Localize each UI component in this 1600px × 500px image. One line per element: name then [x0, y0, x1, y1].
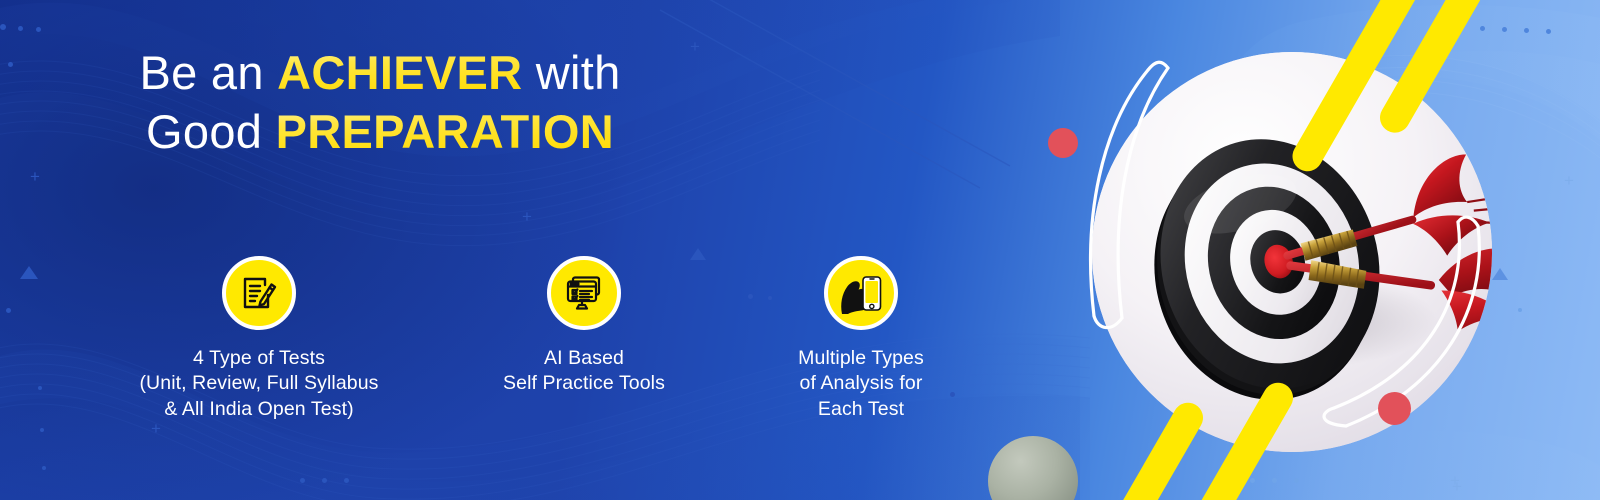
- headline-word: Be an: [139, 46, 277, 99]
- hand-smartphone-icon: [824, 256, 898, 330]
- dot-decoration: [1250, 478, 1255, 483]
- dot-decoration: [1272, 478, 1277, 483]
- dot-decoration: [18, 26, 23, 31]
- dot-decoration: [322, 478, 327, 483]
- monitor-checklist-icon: [547, 256, 621, 330]
- document-pencil-icon: [222, 256, 296, 330]
- promo-banner: + + + + + + + +: [0, 0, 1600, 500]
- dot-decoration: [42, 466, 46, 470]
- dot-decoration: [1502, 27, 1507, 32]
- headline: Be an ACHIEVER with Good PREPARATION: [0, 48, 760, 157]
- dot-decoration: [344, 478, 349, 483]
- dot-decoration: [1480, 26, 1485, 31]
- plus-decoration: +: [30, 168, 40, 185]
- dot-decoration: [748, 294, 753, 299]
- headline-line-2: Good PREPARATION: [0, 107, 760, 157]
- feature-item-analysis[interactable]: Multiple Types of Analysis for Each Test: [761, 256, 961, 422]
- red-dot-decoration: [1048, 128, 1078, 158]
- feature-item-tests[interactable]: 4 Type of Tests (Unit, Review, Full Syll…: [99, 256, 419, 422]
- dot-decoration: [6, 308, 11, 313]
- feature-item-ai-tools[interactable]: AI Based Self Practice Tools: [434, 256, 734, 397]
- feature-label: 4 Type of Tests (Unit, Review, Full Syll…: [99, 346, 419, 422]
- dot-decoration: [1294, 478, 1299, 483]
- white-arc-decoration-left: [1030, 48, 1180, 348]
- plus-decoration: +: [522, 208, 532, 225]
- headline-line-1: Be an ACHIEVER with: [0, 48, 760, 98]
- headline-word: Good: [146, 105, 276, 158]
- dot-decoration: [40, 428, 44, 432]
- dot-decoration: [300, 478, 305, 483]
- dot-decoration: [1524, 28, 1529, 33]
- triangle-decoration: [20, 266, 38, 279]
- white-arc-decoration-right: [1310, 212, 1540, 462]
- headline-word: with: [522, 46, 620, 99]
- red-dot-decoration: [1378, 392, 1411, 425]
- feature-label: AI Based Self Practice Tools: [434, 346, 734, 397]
- dot-decoration: [36, 27, 41, 32]
- plus-decoration: +: [151, 420, 161, 437]
- plus-decoration: +: [1564, 172, 1574, 189]
- headline-word-highlight: PREPARATION: [276, 105, 614, 158]
- dot-decoration: [38, 386, 42, 390]
- dot-decoration: [1546, 29, 1551, 34]
- dot-decoration: [0, 24, 6, 30]
- feature-label: Multiple Types of Analysis for Each Test: [761, 346, 961, 422]
- headline-word-highlight: ACHIEVER: [277, 46, 522, 99]
- plus-decoration: +: [1450, 472, 1460, 489]
